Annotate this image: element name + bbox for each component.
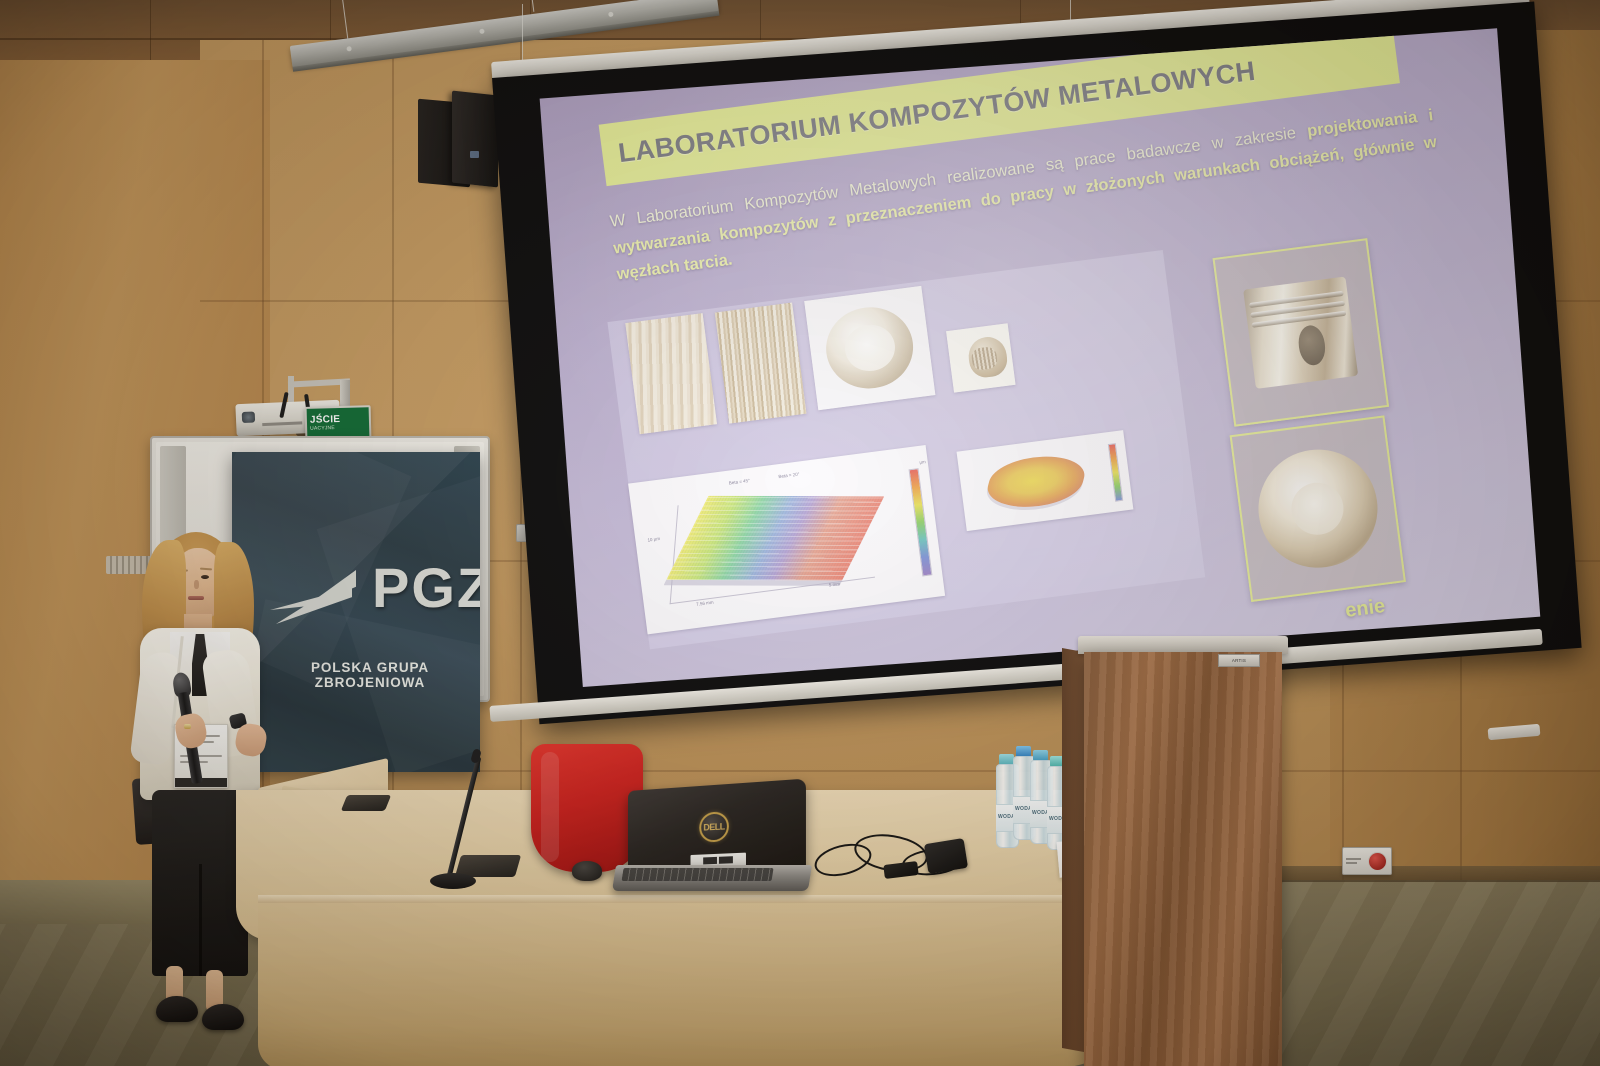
projected-slide: LABORATORIUM KOMPOZYTÓW METALOWYCH W Lab…: [540, 28, 1541, 687]
emergency-call-point[interactable]: [1342, 847, 1392, 875]
conference-room-photo: JŚCIE UACYJNE PGZ POLSKA GRUPA ZBROJENIO…: [0, 0, 1600, 1066]
surface-y-label: 5 mm: [828, 581, 840, 587]
alarm-label-lines: [1343, 856, 1368, 866]
computer-mouse[interactable]: [572, 861, 602, 881]
surface-angle-label-1: Beta = 45°: [729, 478, 751, 486]
slide-caption-1: enie: [1344, 595, 1387, 623]
presenter-eye-right: [201, 575, 209, 579]
laptop[interactable]: DELL: [614, 785, 816, 895]
power-adapter: [924, 838, 968, 874]
presenter-shoe-left: [156, 996, 198, 1022]
figure-microstructure-longitudinal: [625, 313, 717, 434]
surface-angle-label-2: Beta = 20°: [778, 471, 800, 479]
scar-colorbar: [1108, 443, 1123, 502]
figure-wear-scar-detail: [946, 323, 1015, 392]
figure-microstructure-etched: [715, 303, 807, 424]
exit-sign-line2: UACYJNE: [310, 426, 335, 432]
projector-lens-icon: [242, 411, 255, 423]
pgz-chevron-logo-icon: [270, 570, 362, 646]
wooden-lectern: ARTIS: [1078, 636, 1288, 1066]
figure-bushing-cross-section: [804, 286, 935, 410]
presenter-ring: [184, 724, 191, 729]
dell-logo-icon: DELL: [699, 811, 729, 843]
exit-sign-line1: JŚCIE: [310, 415, 341, 426]
surface-colorbar-unit: µm: [919, 459, 926, 465]
desk-gooseneck-microphone[interactable]: [416, 753, 486, 903]
presenter-trousers: [152, 790, 248, 976]
projection-screen-assembly: LABORATORIUM KOMPOZYTÓW METALOWYCH W Lab…: [470, 0, 1560, 780]
presenter-mouth: [188, 596, 204, 600]
desk-cable-port-1[interactable]: [341, 795, 391, 811]
presenter-nose: [194, 580, 199, 589]
pgz-wordmark: PGZ: [372, 560, 480, 616]
surface-z-label: 10 µm: [647, 536, 660, 543]
pgz-subtitle: POLSKA GRUPA ZBROJENIOWA: [270, 660, 470, 690]
projection-screen: LABORATORIUM KOMPOZYTÓW METALOWYCH W Lab…: [492, 1, 1582, 724]
surface-colorbar: [909, 468, 933, 576]
framed-piston-photo: [1213, 238, 1390, 427]
framed-bearing-ring-photo: [1230, 415, 1406, 602]
laptop-keyboard[interactable]: [622, 868, 774, 881]
alarm-red-button-icon[interactable]: [1368, 852, 1387, 871]
surface-x-label: 7.56 mm: [696, 600, 714, 607]
lectern-name-plate: ARTIS: [1218, 654, 1260, 667]
